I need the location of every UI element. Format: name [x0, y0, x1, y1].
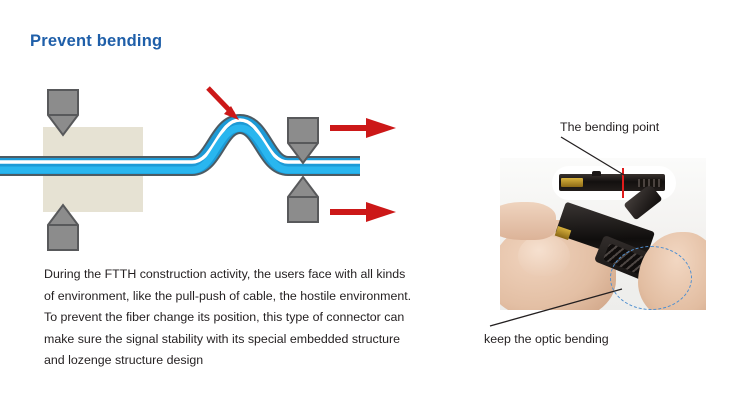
bend-arrow	[208, 88, 239, 120]
pull-arrow-top	[330, 118, 396, 138]
paragraph-line: To prevent the fiber change its position…	[44, 307, 419, 329]
connector-inset-ferrule	[561, 178, 583, 187]
connector-inset-latch	[592, 171, 601, 176]
label-bending-point: The bending point	[560, 120, 659, 134]
fiber-bending-diagram	[0, 70, 430, 250]
paragraph-line: and lozenge structure design	[44, 350, 419, 372]
bending-point-marker	[622, 168, 624, 198]
bend-highlight-ellipse	[610, 246, 692, 310]
photo-frame	[500, 158, 706, 310]
page-title: Prevent bending	[30, 32, 162, 51]
index-finger	[500, 202, 556, 240]
thumbnail-highlight	[518, 236, 570, 276]
paragraph-line: During the FTTH construction activity, t…	[44, 264, 419, 286]
connector-photo	[500, 158, 706, 310]
paragraph-line: make sure the signal stability with its …	[44, 329, 419, 351]
pull-arrow-bottom	[330, 202, 396, 222]
description-paragraph: During the FTTH construction activity, t…	[44, 264, 419, 372]
label-keep-optic-bending: keep the optic bending	[484, 332, 609, 346]
clamp-bottom-right	[288, 177, 318, 222]
paragraph-line: of environment, like the pull-push of ca…	[44, 286, 419, 308]
slide-root: Prevent bending	[0, 0, 750, 403]
